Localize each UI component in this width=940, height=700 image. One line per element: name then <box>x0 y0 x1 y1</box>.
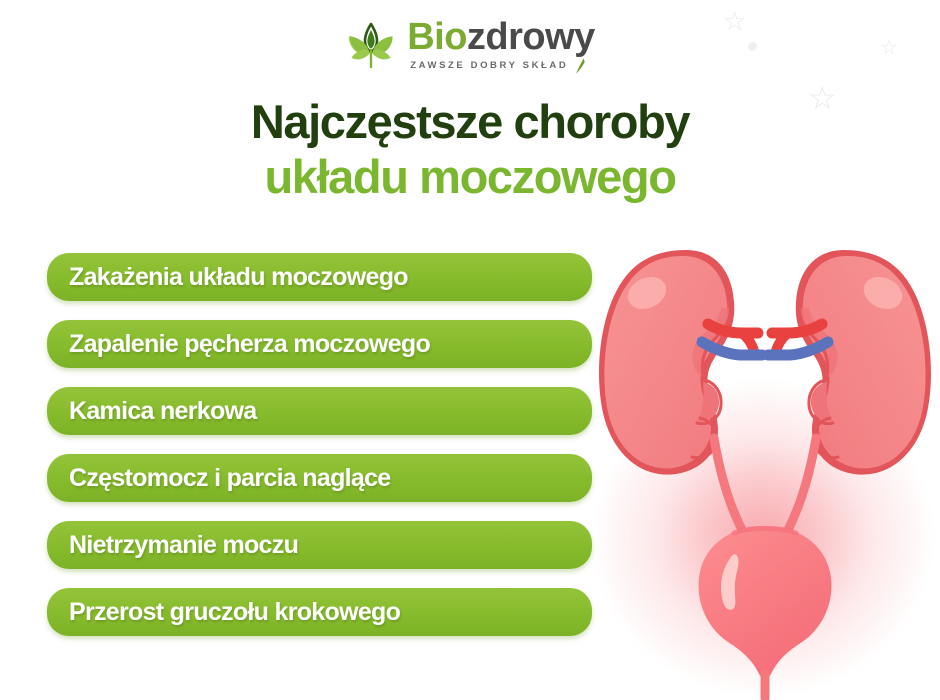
list-item[interactable]: Zapalenie pęcherza moczowego <box>47 320 592 368</box>
condition-label: Przerost gruczołu krokowego <box>69 598 400 627</box>
left-renal-artery <box>708 324 758 333</box>
list-item[interactable]: Zakażenia układu moczowego <box>47 253 592 301</box>
brand-word-zdrowy: zdrowy <box>467 16 595 58</box>
condition-label: Częstomocz i parcia naglące <box>69 464 391 493</box>
slash-leaf-icon <box>572 58 586 74</box>
list-item[interactable]: Nietrzymanie moczu <box>47 521 592 569</box>
leaf-plant-icon <box>345 20 397 72</box>
condition-label: Kamica nerkowa <box>69 397 257 426</box>
headline-line-primary: Najczęstsze choroby <box>0 96 940 149</box>
condition-label: Zakażenia układu moczowego <box>69 263 408 292</box>
right-renal-artery <box>772 324 822 333</box>
list-item[interactable]: Kamica nerkowa <box>47 387 592 435</box>
list-item[interactable]: Częstomocz i parcia naglące <box>47 454 592 502</box>
brand-logo: Biozdrowy ZAWSZE DOBRY SKŁAD <box>0 14 940 78</box>
list-item[interactable]: Przerost gruczołu krokowego <box>47 588 592 636</box>
condition-list: Zakażenia układu moczowego Zapalenie pęc… <box>47 253 592 636</box>
brand-wordmark: Biozdrowy ZAWSZE DOBRY SKŁAD <box>407 18 595 74</box>
condition-label: Zapalenie pęcherza moczowego <box>69 330 430 359</box>
headline-line-secondary: układu moczowego <box>0 151 940 204</box>
brand-tagline: ZAWSZE DOBRY SKŁAD <box>410 60 568 71</box>
page-title: Najczęstsze choroby układu moczowego <box>0 96 940 203</box>
condition-label: Nietrzymanie moczu <box>69 531 298 560</box>
infographic-canvas: ☆ ☆ ☆ Biozdrowy <box>0 0 940 700</box>
urinary-system-illustration <box>590 238 940 700</box>
brand-word-bio: Bio <box>407 16 467 58</box>
